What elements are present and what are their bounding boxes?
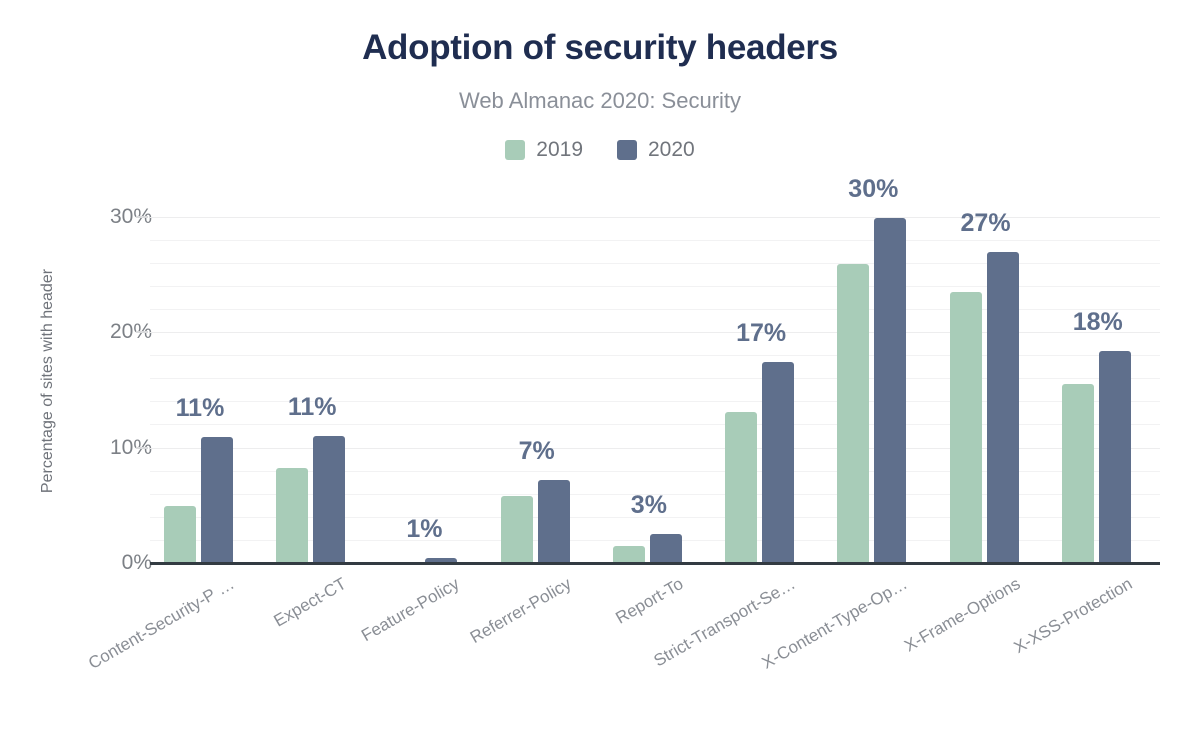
- bar-2020[interactable]: [987, 252, 1019, 563]
- bar-2019[interactable]: [1062, 384, 1094, 563]
- bar-group: 7%: [487, 205, 599, 563]
- x-axis-tick-label: Report-To: [612, 574, 687, 629]
- bar-2019[interactable]: [501, 496, 533, 563]
- bar-value-label: 30%: [813, 175, 933, 204]
- y-axis-tick-label: 30%: [32, 205, 152, 229]
- bar-2019[interactable]: [164, 506, 196, 563]
- x-axis-tick-label: Expect-CT: [271, 574, 351, 631]
- bar-value-label: 11%: [140, 394, 260, 423]
- y-axis-tick-mark: [136, 331, 148, 333]
- bar-2020[interactable]: [201, 437, 233, 563]
- bar-group: 18%: [1048, 205, 1160, 563]
- bar-group: 1%: [374, 205, 486, 563]
- chart-container: Adoption of security headers Web Almanac…: [0, 0, 1200, 742]
- y-axis-tick-mark: [136, 216, 148, 218]
- x-axis-tick-label: Content-Security-P …: [85, 574, 238, 674]
- x-axis-baseline: [150, 562, 1160, 565]
- bar-value-label: 7%: [477, 437, 597, 466]
- bar-2019[interactable]: [837, 264, 869, 563]
- bar-2020[interactable]: [762, 362, 794, 563]
- y-axis-tick-mark: [136, 447, 148, 449]
- plot-area: 11%11%1%7%3%17%30%27%18%: [150, 205, 1160, 563]
- y-axis-tick-label: 0%: [32, 551, 152, 575]
- bar-value-label: 27%: [926, 209, 1046, 238]
- y-axis-tick-label: 10%: [32, 436, 152, 460]
- bar-group: 11%: [150, 205, 262, 563]
- bar-group: 27%: [936, 205, 1048, 563]
- bar-2020[interactable]: [874, 218, 906, 563]
- y-axis-title: Percentage of sites with header: [39, 221, 57, 541]
- bar-2019[interactable]: [725, 412, 757, 563]
- bar-2019[interactable]: [950, 292, 982, 563]
- bar-value-label: 17%: [701, 319, 821, 348]
- x-axis-tick-label: Referrer-Policy: [467, 574, 575, 648]
- bar-value-label: 3%: [589, 491, 709, 520]
- plot-wrapper: Percentage of sites with header 0%10%20%…: [0, 0, 1200, 742]
- bar-2020[interactable]: [650, 534, 682, 563]
- bar-group: 3%: [599, 205, 711, 563]
- x-axis-tick-label: Feature-Policy: [358, 574, 463, 646]
- bar-value-label: 1%: [364, 515, 484, 544]
- bar-group: 17%: [711, 205, 823, 563]
- bar-2019[interactable]: [276, 468, 308, 563]
- y-axis-tick-label: 20%: [32, 320, 152, 344]
- bar-2020[interactable]: [313, 436, 345, 563]
- bar-2020[interactable]: [538, 480, 570, 563]
- bar-value-label: 11%: [252, 393, 372, 422]
- x-axis-tick-label: X-Frame-Options: [901, 574, 1024, 657]
- bar-2019[interactable]: [613, 546, 645, 563]
- bar-2020[interactable]: [1099, 351, 1131, 563]
- bar-group: 11%: [262, 205, 374, 563]
- bar-value-label: 18%: [1038, 308, 1158, 337]
- bar-group: 30%: [823, 205, 935, 563]
- x-axis-tick-label: X-XSS-Protection: [1010, 574, 1135, 658]
